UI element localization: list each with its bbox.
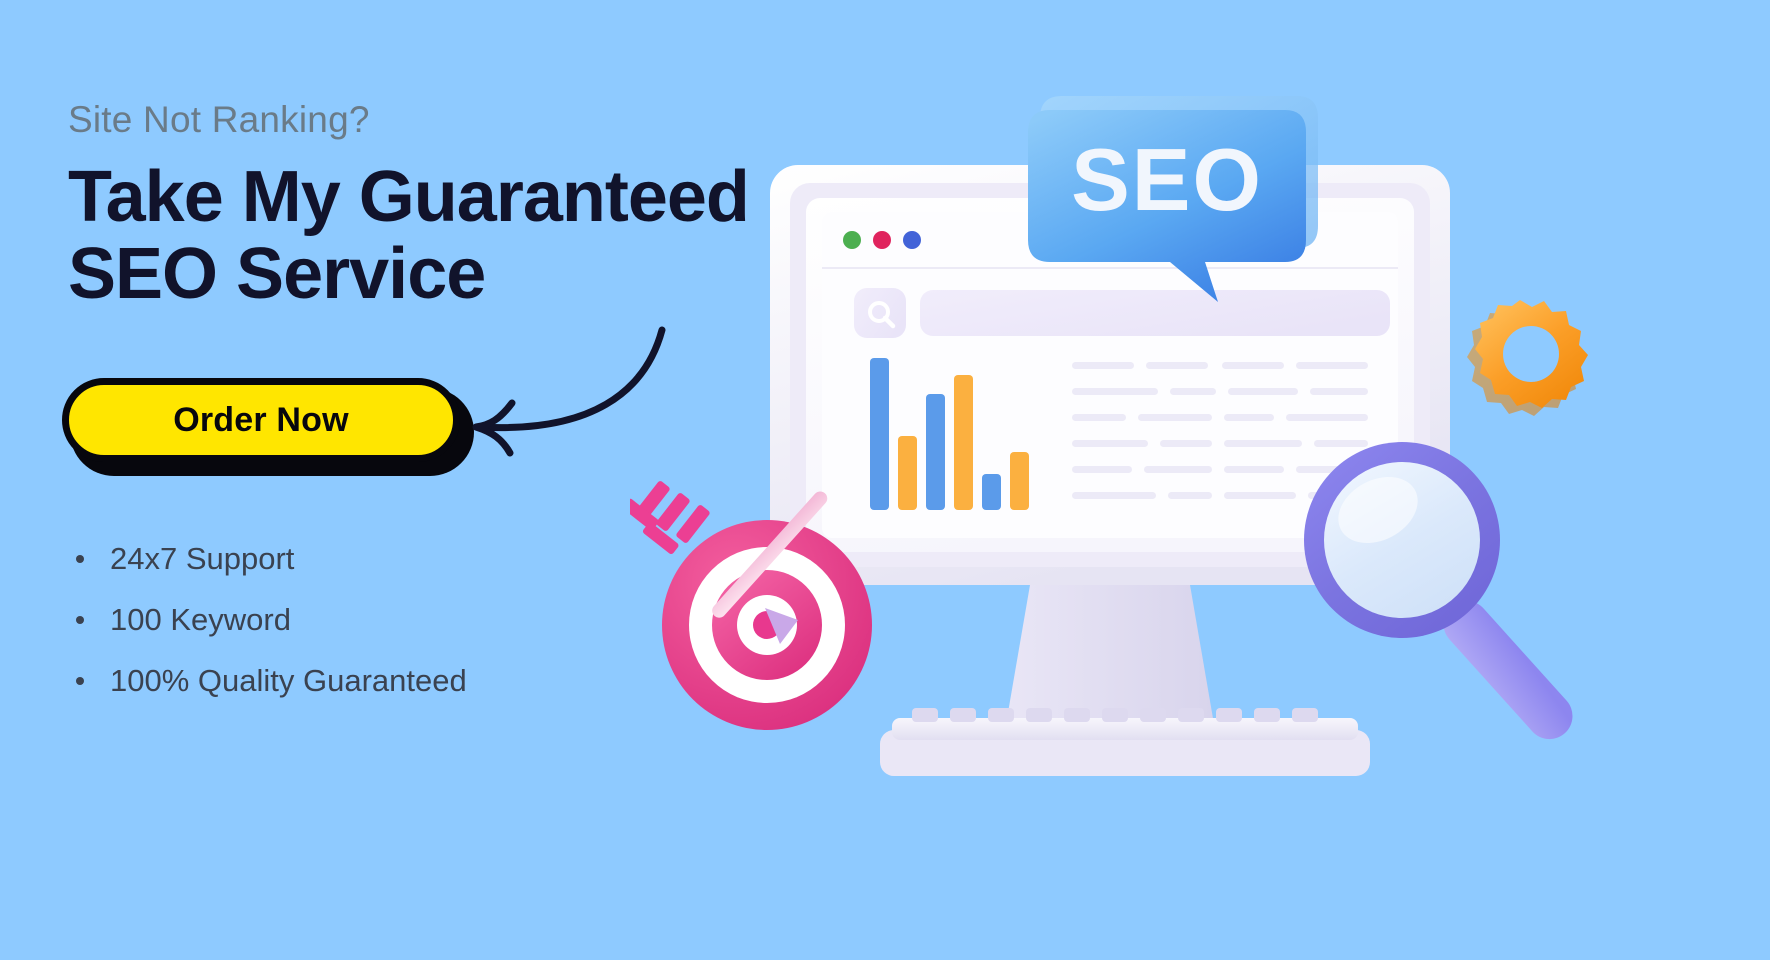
gear-icon — [1467, 300, 1588, 416]
bullet-dot-icon — [76, 677, 84, 685]
list-item: 24x7 Support — [76, 528, 467, 589]
feature-label: 100% Quality Guaranteed — [110, 663, 467, 699]
feature-label: 24x7 Support — [110, 541, 294, 577]
cta-container: Order Now — [62, 378, 482, 478]
illustration-svg: SEO — [630, 40, 1770, 900]
seo-bubble-text: SEO — [1071, 130, 1263, 229]
seo-service-banner: Site Not Ranking? Take My Guaranteed SEO… — [0, 0, 1770, 960]
red-dot-icon — [873, 231, 891, 249]
feature-label: 100 Keyword — [110, 602, 291, 638]
search-input[interactable] — [920, 290, 1390, 336]
list-item: 100% Quality Guaranteed — [76, 650, 467, 711]
blue-dot-icon — [903, 231, 921, 249]
seo-illustration: SEO — [630, 40, 1770, 900]
feature-list: 24x7 Support 100 Keyword 100% Quality Gu… — [76, 528, 467, 711]
list-item: 100 Keyword — [76, 589, 467, 650]
magnifier-icon — [1304, 442, 1582, 749]
order-now-button-label: Order Now — [173, 401, 349, 440]
bullet-dot-icon — [76, 555, 84, 563]
monitor-base — [880, 708, 1370, 776]
green-dot-icon — [843, 231, 861, 249]
order-now-button[interactable]: Order Now — [62, 378, 460, 462]
search-bar[interactable] — [854, 288, 1390, 338]
bullet-dot-icon — [76, 616, 84, 624]
